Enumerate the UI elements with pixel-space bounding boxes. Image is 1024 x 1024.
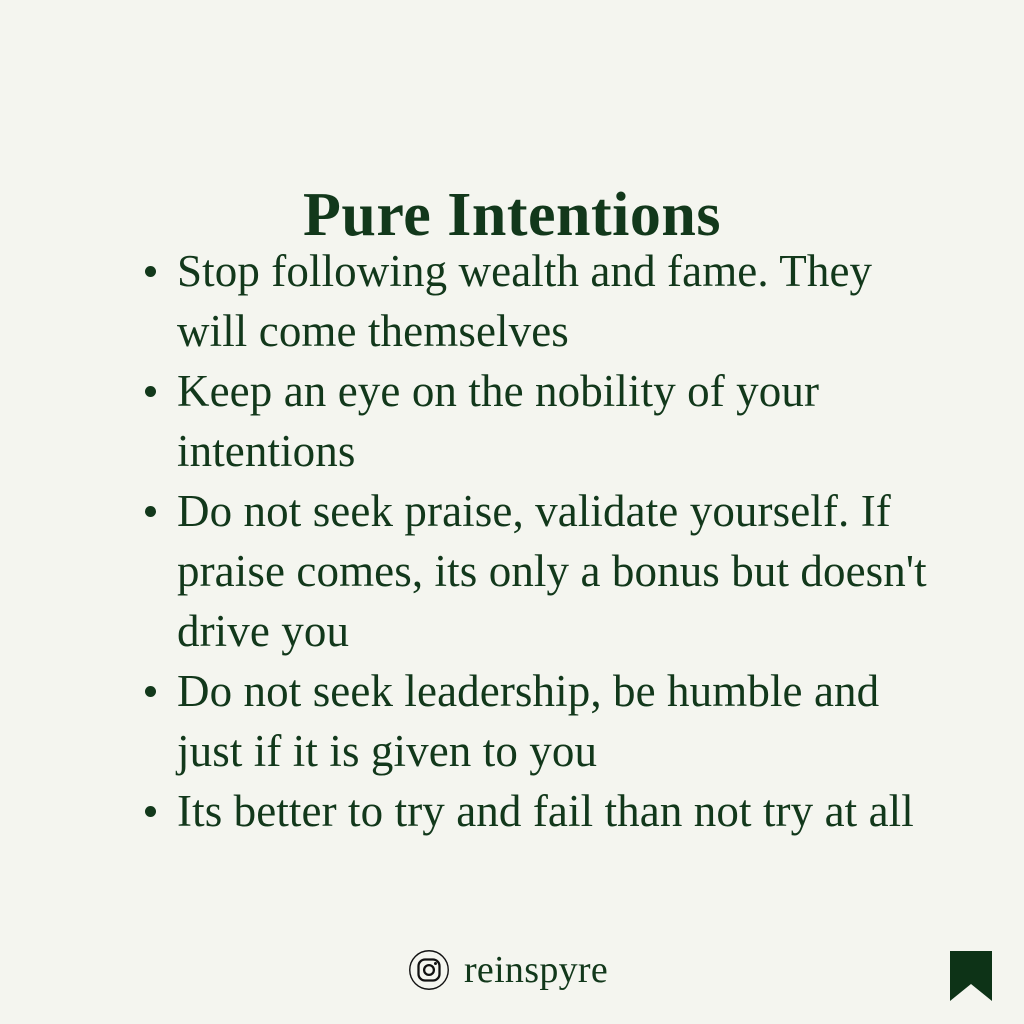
bullet-dot-icon <box>145 506 156 517</box>
handle-text: reinspyre <box>464 949 608 991</box>
advice-list: Stop following wealth and fame. They wil… <box>138 241 928 841</box>
instagram-icon <box>408 949 450 991</box>
bullet-dot-icon <box>145 686 156 697</box>
bullet-dot-icon <box>145 806 156 817</box>
list-item: Keep an eye on the nobility of your inte… <box>138 361 928 481</box>
list-item: Do not seek leadership, be humble and ju… <box>138 661 928 781</box>
list-item-text: Do not seek praise, validate yourself. I… <box>177 481 928 661</box>
bookmark-icon <box>950 951 992 1001</box>
list-item-text: Do not seek leadership, be humble and ju… <box>177 661 928 781</box>
bullet-dot-icon <box>145 386 156 397</box>
list-item: Stop following wealth and fame. They wil… <box>138 241 928 361</box>
quote-card: Pure Intentions Stop following wealth an… <box>0 0 1024 1024</box>
list-item-text: Its better to try and fail than not try … <box>177 781 928 841</box>
social-handle: reinspyre <box>0 949 1016 991</box>
list-item-text: Keep an eye on the nobility of your inte… <box>177 361 928 481</box>
list-item: Its better to try and fail than not try … <box>138 781 928 841</box>
bullet-dot-icon <box>145 266 156 277</box>
list-item-text: Stop following wealth and fame. They wil… <box>177 241 928 361</box>
list-item: Do not seek praise, validate yourself. I… <box>138 481 928 661</box>
